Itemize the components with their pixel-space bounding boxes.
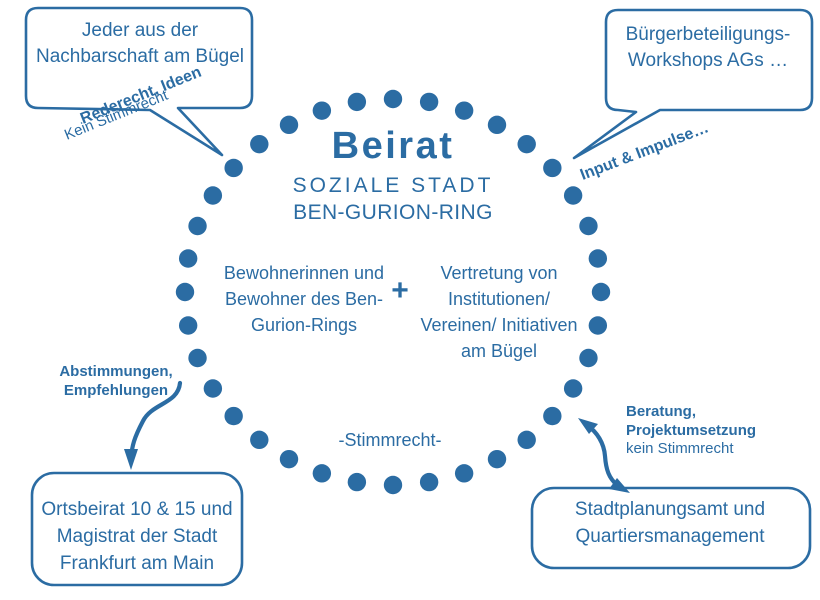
connector-label-bottom-right-primary: Beratung, Projektumsetzung xyxy=(626,402,812,440)
ring-dot xyxy=(420,93,438,111)
ring-dot xyxy=(384,476,402,494)
ring-dot xyxy=(179,316,197,334)
ring-dot xyxy=(592,283,610,301)
center-column-right: Vertretung von Institutionen/ Vereinen/ … xyxy=(420,260,578,364)
ring-dot xyxy=(579,349,597,367)
center-subtitle-secondary: BEN-GURION-RING xyxy=(243,201,543,225)
ring-dot xyxy=(564,379,582,397)
ring-dot xyxy=(179,249,197,267)
ring-dot xyxy=(488,450,506,468)
ring-dot xyxy=(455,101,473,119)
connector-label-bottom-left: Abstimmungen, Empfehlungen xyxy=(36,362,196,400)
box-bottom-right-label: Stadtplanungsamt und Quartiersmanagement xyxy=(536,496,804,550)
ring-dot xyxy=(188,217,206,235)
bubble-top-left-label: Jeder aus der Nachbarschaft am Bügel xyxy=(34,18,246,70)
ring-dot xyxy=(348,473,366,491)
ring-dot xyxy=(224,407,242,425)
ring-dot xyxy=(348,93,366,111)
ring-dot xyxy=(313,464,331,482)
ring-dot xyxy=(455,464,473,482)
ring-dot xyxy=(589,249,607,267)
center-footer-note: -Stimmrecht- xyxy=(300,430,480,451)
ring-dot xyxy=(579,217,597,235)
ring-dot xyxy=(204,379,222,397)
diagram-canvas: Jeder aus der Nachbarschaft am Bügel Bür… xyxy=(0,0,820,600)
ring-dot xyxy=(543,159,561,177)
center-column-left: Bewohnerinnen und Bewohner des Ben-Gurio… xyxy=(218,260,390,338)
ring-dot xyxy=(313,101,331,119)
page-title: Beirat xyxy=(243,125,543,167)
ring-dot xyxy=(564,186,582,204)
ring-dot xyxy=(589,316,607,334)
ring-dot xyxy=(204,186,222,204)
connector-label-bottom-right-secondary: kein Stimmrecht xyxy=(626,440,812,457)
ring-dot xyxy=(518,431,536,449)
ring-dot xyxy=(420,473,438,491)
bubble-top-right-label: Bürgerbeteiligungs- Workshops AGs … xyxy=(608,22,808,74)
ring-dot xyxy=(543,407,561,425)
box-bottom-left-label: Ortsbeirat 10 & 15 und Magistrat der Sta… xyxy=(38,496,236,577)
ring-dot xyxy=(384,90,402,108)
plus-icon: + xyxy=(385,276,415,306)
arrow-bottom-right xyxy=(578,418,630,493)
center-subtitle-primary: SOZIALE STADT xyxy=(243,174,543,198)
ring-dot xyxy=(176,283,194,301)
ring-dot xyxy=(280,450,298,468)
ring-dot xyxy=(224,159,242,177)
ring-dot xyxy=(250,431,268,449)
